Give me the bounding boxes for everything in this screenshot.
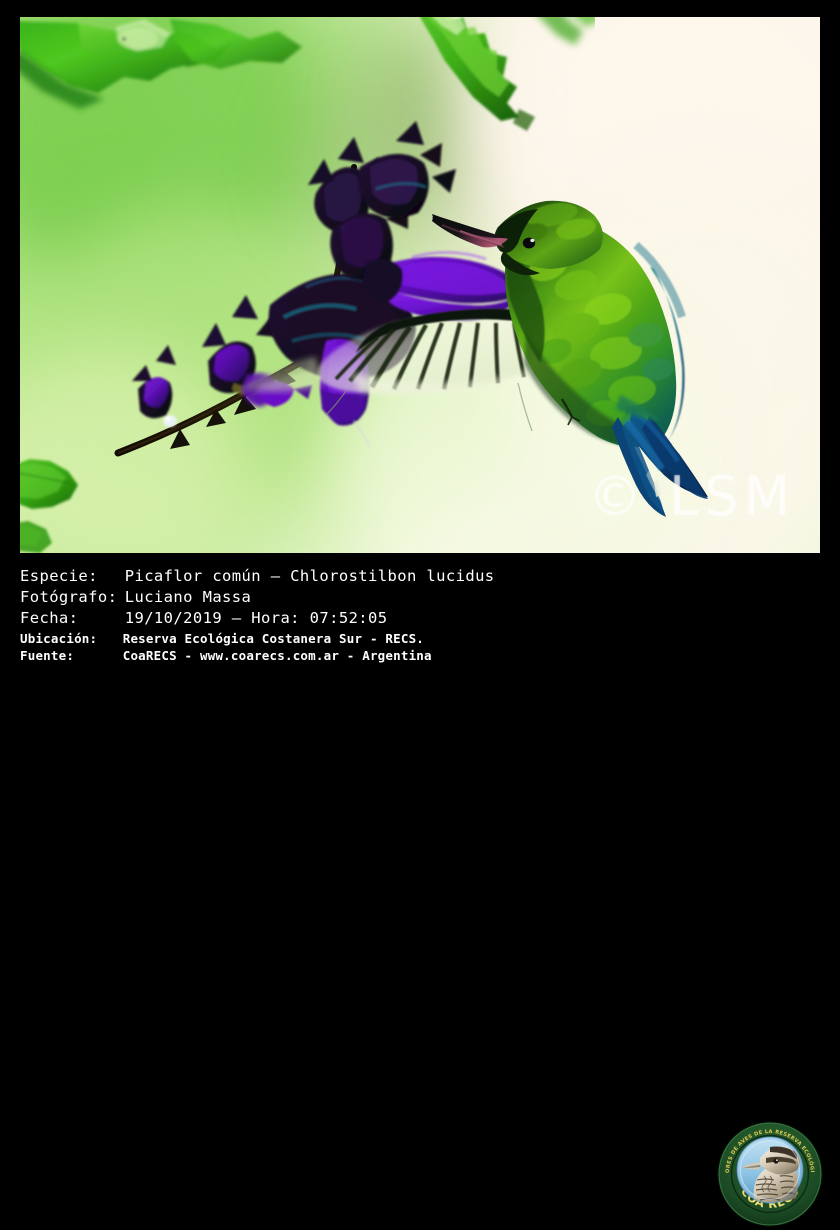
- coa-recs-logo: CLUB DE OBSERVADORES DE AVES DE LA RESER…: [714, 1118, 826, 1230]
- caption-value-fuente: CoaRECS - www.coarecs.com.ar - Argentina: [123, 648, 432, 663]
- caption-label-fuente: Fuente:: [20, 648, 115, 663]
- caption-row-fecha: Fecha: 19/10/2019 — Hora: 07:52:05: [20, 609, 388, 627]
- caption-value-especie: Picaflor común — Chlorostilbon lucidus: [125, 567, 495, 585]
- caption-value-fecha: 19/10/2019 — Hora: 07:52:05: [125, 609, 388, 627]
- caption-label-ubicacion: Ubicación:: [20, 631, 115, 646]
- caption-label-fotografo: Fotógrafo:: [20, 588, 115, 606]
- caption-label-fecha: Fecha:: [20, 609, 115, 627]
- caption-value-fotografo: Luciano Massa: [125, 588, 252, 606]
- caption-row-ubicacion: Ubicación: Reserva Ecológica Costanera S…: [20, 631, 424, 646]
- photograph: © LSM: [20, 17, 820, 553]
- caption-row-fuente: Fuente: CoaRECS - www.coarecs.com.ar - A…: [20, 648, 432, 663]
- caption-row-fotografo: Fotógrafo: Luciano Massa: [20, 588, 251, 606]
- caption-label-especie: Especie:: [20, 567, 115, 585]
- caption-row-especie: Especie: Picaflor común — Chlorostilbon …: [20, 567, 495, 585]
- coa-recs-logo-graphic: CLUB DE OBSERVADORES DE AVES DE LA RESER…: [714, 1118, 826, 1230]
- hummingbird: [20, 17, 820, 553]
- caption-bar: Especie: Picaflor común — Chlorostilbon …: [0, 556, 840, 669]
- bird-eye: [523, 238, 535, 249]
- caption-value-ubicacion: Reserva Ecológica Costanera Sur - RECS.: [123, 631, 424, 646]
